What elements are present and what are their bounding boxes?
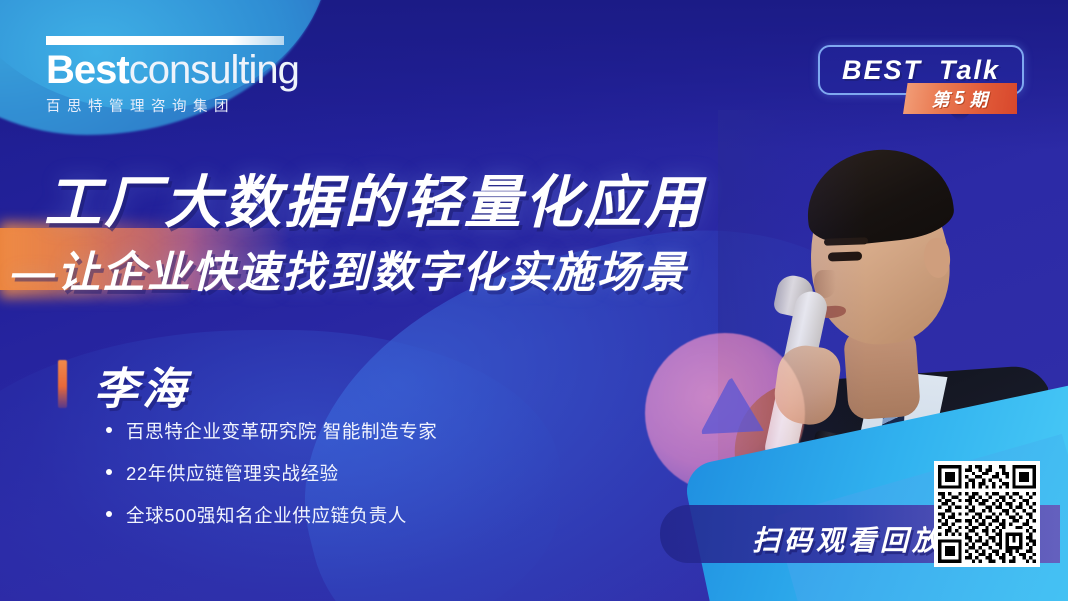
cta-text: 扫码观看回放 xyxy=(752,519,944,559)
main-title: 工厂大数据的轻量化应用 xyxy=(44,157,704,239)
logo-rule xyxy=(46,36,284,45)
list-item: 22年供应链管理实战经验 xyxy=(106,460,437,486)
badge-word-talk: Talk xyxy=(939,55,1000,86)
qr-code-icon xyxy=(938,465,1036,563)
episode-ribbon-text: 第 5 期 xyxy=(903,83,1017,114)
speaker-name: 李海 xyxy=(94,353,190,417)
episode-suffix: 期 xyxy=(970,86,989,112)
brand-logo: Bestconsulting 百思特管理咨询集团 xyxy=(46,36,296,116)
logo-wordmark: Bestconsulting xyxy=(46,47,296,93)
list-item: 百思特企业变革研究院 智能制造专家 xyxy=(106,418,437,444)
sub-title: —让企业快速找到数字化实施场景 xyxy=(12,238,687,300)
badge-word-best: BEST xyxy=(842,55,922,86)
episode-number: 5 xyxy=(954,88,965,109)
logo-word-best: Best xyxy=(46,48,129,92)
logo-chinese-name: 百思特管理咨询集团 xyxy=(46,95,296,116)
logo-word-consulting: consulting xyxy=(129,48,299,92)
poster-canvas: Bestconsulting 百思特管理咨询集团 BEST Talk 第 5 期… xyxy=(0,0,1068,601)
speaker-credentials-list: 百思特企业变革研究院 智能制造专家 22年供应链管理实战经验 全球500强知名企… xyxy=(106,418,437,544)
speaker-name-accent-bar xyxy=(58,360,67,408)
qr-code[interactable] xyxy=(934,461,1040,567)
episode-prefix: 第 xyxy=(931,86,950,112)
list-item: 全球500强知名企业供应链负责人 xyxy=(106,502,437,528)
